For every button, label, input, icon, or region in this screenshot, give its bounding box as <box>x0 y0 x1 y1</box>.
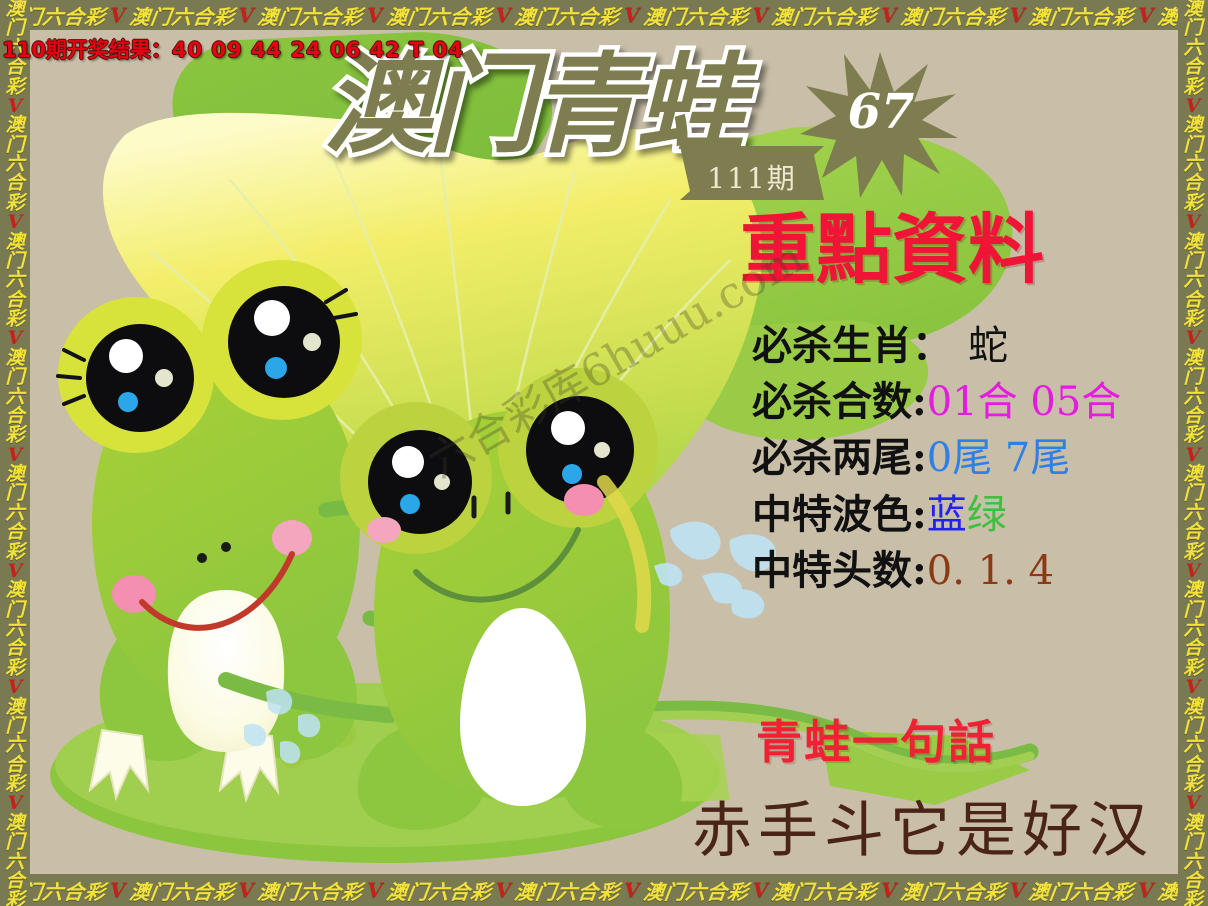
row-value-blue: 蓝 <box>927 492 967 538</box>
border-text: 六 <box>1183 388 1202 407</box>
slogan-body: 赤手斗它是好汉 <box>692 782 1154 869</box>
border-text: 澳门六合彩 <box>384 1 495 30</box>
border-separator: V <box>1135 3 1157 27</box>
border-text: 澳 <box>5 233 24 252</box>
border-text: 合 <box>1183 639 1202 658</box>
row-value-green: 绿 <box>967 492 1007 538</box>
border-text: 澳门六合彩 <box>641 1 752 30</box>
border-right: 澳门六合彩V澳门六合彩V澳门六合彩V澳门六合彩V澳门六合彩V澳门六合彩V澳门六合… <box>1178 0 1208 906</box>
border-text: 彩 <box>1183 543 1202 562</box>
border-text: 澳 <box>1183 581 1202 600</box>
border-text: 门 <box>5 368 24 387</box>
border-separator: V <box>8 213 23 232</box>
border-separator: V <box>621 878 643 902</box>
border-text: 六 <box>5 388 24 407</box>
border-text: 合 <box>1183 174 1202 193</box>
row-value: 01合 05合 <box>927 379 1122 425</box>
border-text: 澳门六合彩 <box>512 1 623 30</box>
data-rows: 必杀生肖：蛇 必杀合数:01合 05合 必杀两尾:0尾 7尾 中特波色:蓝绿 中… <box>752 318 1192 599</box>
burst-number: 67 <box>836 84 926 140</box>
border-separator: V <box>750 3 772 27</box>
draw-result-label: 110期开奖结果： <box>2 38 172 62</box>
border-top: 澳门六合彩V澳门六合彩V澳门六合彩V澳门六合彩V澳门六合彩V澳门六合彩V澳门六合… <box>0 0 1208 30</box>
border-text: 门 <box>5 833 24 852</box>
border-text: 澳门六合彩 <box>898 1 1009 30</box>
table-row: 中特头数:0. 1. 4 <box>752 543 1192 599</box>
border-separator: V <box>364 878 386 902</box>
border-separator: V <box>1186 678 1201 697</box>
border-separator: V <box>493 3 515 27</box>
poster-root: 六合彩库6huuu.com 67 111期 澳门青蛙 澳门青蛙 110期开奖结果… <box>0 0 1208 906</box>
border-text: 彩 <box>1183 891 1202 906</box>
border-text: 澳门六合彩 <box>641 876 752 905</box>
border-text: 合 <box>1183 58 1202 77</box>
row-key: 必杀两尾: <box>752 434 927 481</box>
border-text: 六 <box>1183 853 1202 872</box>
border-separator: V <box>107 878 129 902</box>
border-text: 澳 <box>1183 698 1202 717</box>
border-text: 六 <box>5 736 24 755</box>
period-label: 111期 <box>672 157 832 197</box>
row-value: 0. 1. 4 <box>927 548 1054 594</box>
slogan-heading: 青蛙一句話 <box>756 706 996 772</box>
border-separator: V <box>8 329 23 348</box>
border-text: 六 <box>5 271 24 290</box>
border-text: 澳 <box>5 116 24 135</box>
border-text: 澳门六合彩 <box>126 1 237 30</box>
border-text: 澳门六合彩 <box>769 1 880 30</box>
border-separator: V <box>107 3 129 27</box>
section-heading: 重點資料 <box>740 212 1044 288</box>
border-text: 彩 <box>1183 78 1202 97</box>
table-row: 必杀生肖：蛇 <box>752 318 1192 374</box>
border-separator: V <box>878 878 900 902</box>
border-text: 澳门六合彩 <box>1026 876 1137 905</box>
border-separator: V <box>750 878 772 902</box>
row-value: 蛇 <box>968 323 1008 369</box>
border-text: 澳 <box>1183 233 1202 252</box>
border-strip-bottom: 澳门六合彩V澳门六合彩V澳门六合彩V澳门六合彩V澳门六合彩V澳门六合彩V澳门六合… <box>0 874 1208 906</box>
border-separator: V <box>8 678 23 697</box>
border-separator: V <box>1186 329 1201 348</box>
border-left: 澳门六合彩V澳门六合彩V澳门六合彩V澳门六合彩V澳门六合彩V澳门六合彩V澳门六合… <box>0 0 30 906</box>
row-value: 0尾 7尾 <box>927 435 1071 481</box>
border-separator: V <box>1135 878 1157 902</box>
border-separator: V <box>8 794 23 813</box>
border-text: 澳门六合彩 <box>255 1 366 30</box>
border-text: 澳门六合彩 <box>898 876 1009 905</box>
row-key: 必杀合数: <box>752 378 927 425</box>
row-key: 必杀生肖： <box>752 322 952 369</box>
border-separator: V <box>493 878 515 902</box>
border-separator: V <box>1186 794 1201 813</box>
table-row: 必杀两尾:0尾 7尾 <box>752 430 1192 486</box>
border-text: 六 <box>1183 736 1202 755</box>
border-strip-right: 澳门六合彩V澳门六合彩V澳门六合彩V澳门六合彩V澳门六合彩V澳门六合彩V澳门六合… <box>1178 0 1208 906</box>
border-text: 合 <box>5 639 24 658</box>
draw-result-bar: 110期开奖结果：40 09 44 24 06 42 T 04 <box>2 34 464 64</box>
border-text: 澳门六合彩 <box>384 876 495 905</box>
border-text: 门 <box>1183 19 1202 38</box>
border-text: 彩 <box>1183 426 1202 445</box>
border-text: 澳门六合彩 <box>512 876 623 905</box>
border-separator: V <box>1186 213 1201 232</box>
table-row: 必杀合数:01合 05合 <box>752 374 1192 430</box>
border-text: 合 <box>5 523 24 542</box>
border-text: 澳门六合彩 <box>255 876 366 905</box>
border-text: 彩 <box>5 78 24 97</box>
poster-title: 澳门青蛙 <box>324 52 740 160</box>
border-text: 彩 <box>5 891 24 906</box>
border-text: 门 <box>1183 484 1202 503</box>
border-bottom: 澳门六合彩V澳门六合彩V澳门六合彩V澳门六合彩V澳门六合彩V澳门六合彩V澳门六合… <box>0 874 1208 906</box>
border-text: 澳门六合彩 <box>1026 1 1137 30</box>
row-key: 中特头数: <box>752 547 927 594</box>
border-separator: V <box>236 3 258 27</box>
border-text: 彩 <box>5 426 24 445</box>
border-text: 门 <box>1183 368 1202 387</box>
border-text: 六 <box>5 853 24 872</box>
border-separator: V <box>364 3 386 27</box>
border-separator: V <box>236 878 258 902</box>
table-row: 中特波色:蓝绿 <box>752 487 1192 543</box>
border-text: 澳 <box>5 698 24 717</box>
border-separator: V <box>878 3 900 27</box>
border-text: 澳 <box>5 581 24 600</box>
border-text: 澳门六合彩 <box>126 876 237 905</box>
border-text: 彩 <box>5 543 24 562</box>
border-separator: V <box>1007 3 1029 27</box>
border-text: 六 <box>1183 271 1202 290</box>
border-strip-top: 澳门六合彩V澳门六合彩V澳门六合彩V澳门六合彩V澳门六合彩V澳门六合彩V澳门六合… <box>0 0 1208 30</box>
border-text: 门 <box>1183 833 1202 852</box>
row-key: 中特波色: <box>752 491 927 538</box>
border-text: 合 <box>1183 523 1202 542</box>
border-text: 合 <box>5 174 24 193</box>
border-strip-left: 澳门六合彩V澳门六合彩V澳门六合彩V澳门六合彩V澳门六合彩V澳门六合彩V澳门六合… <box>0 0 30 906</box>
border-separator: V <box>1007 878 1029 902</box>
border-text: 澳 <box>1183 116 1202 135</box>
draw-result-numbers: 40 09 44 24 06 42 T 04 <box>172 38 464 62</box>
border-text: 门 <box>5 484 24 503</box>
border-text: 澳门六合彩 <box>769 876 880 905</box>
border-separator: V <box>621 3 643 27</box>
